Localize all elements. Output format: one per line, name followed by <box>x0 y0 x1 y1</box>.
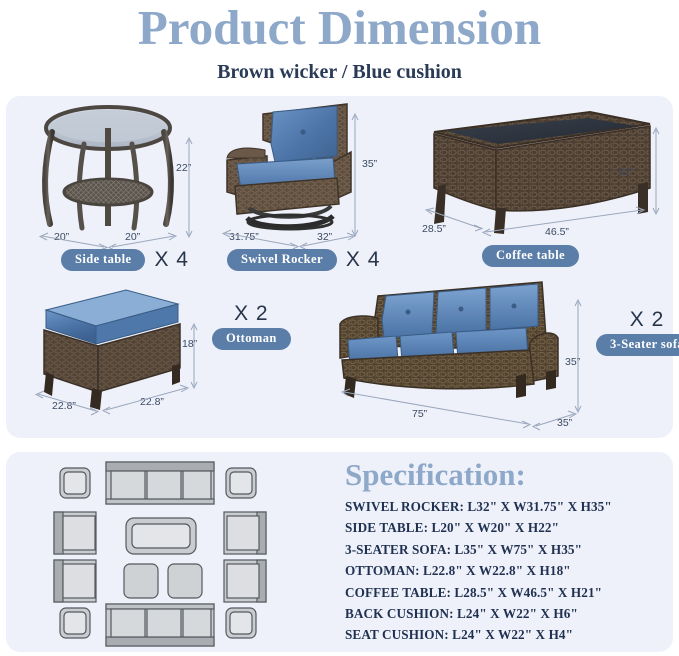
side-table-badge: Side table <box>61 249 145 271</box>
product-ottoman: 18” 22.8” 22.8” X 2 Ottoman <box>30 282 205 417</box>
product-side-table: 22” 20” 20” Side table X 4 <box>26 100 211 250</box>
swivel-rocker-badge: Swivel Rocker <box>227 249 337 271</box>
layout-side-table <box>60 608 90 638</box>
layout-coffee-table <box>126 518 196 554</box>
spec-line-swivel-rocker: SWIVEL ROCKER: L32" X W31.75" X H35" <box>345 496 670 517</box>
ottoman-dimension-arrows <box>30 282 205 417</box>
specification-section: Specification: SWIVEL ROCKER: L32" X W31… <box>345 458 670 646</box>
sofa-multiplier: X 2 <box>630 308 665 332</box>
swivel-rocker-caption: Swivel Rocker X 4 <box>227 248 380 272</box>
layout-swivel-rocker <box>224 512 266 554</box>
layout-diagram-svg <box>22 458 334 646</box>
page-subtitle: Brown wicker / Blue cushion <box>0 60 679 84</box>
spec-line-coffee-table: COFFEE TABLE: L28.5" X W46.5" X H21" <box>345 582 670 603</box>
layout-side-table <box>60 468 90 498</box>
swivel-rocker-multiplier: X 4 <box>346 248 381 272</box>
layout-sofa <box>106 604 214 646</box>
page-header: Product Dimension Brown wicker / Blue cu… <box>0 0 679 84</box>
spec-line-3-seater-sofa: 3-SEATER SOFA: L35" X W75" X H35" <box>345 539 670 560</box>
spec-line-side-table: SIDE TABLE: L20" X W20" X H22" <box>345 517 670 538</box>
layout-diagram <box>22 458 334 646</box>
specification-list: SWIVEL ROCKER: L32" X W31.75" X H35" SID… <box>345 496 670 646</box>
layout-swivel-rocker <box>54 512 96 554</box>
product-3-seater-sofa: 35” 75” 35” X 2 3-Seater sofa <box>330 280 620 425</box>
product-coffee-table: 21” 28.5” 46.5” Coffee table <box>412 100 662 250</box>
page-title: Product Dimension <box>0 2 679 54</box>
spec-line-ottoman: OTTOMAN: L22.8" X W22.8" X H18" <box>345 560 670 581</box>
sofa-dimension-arrows <box>330 280 620 430</box>
layout-sofa <box>106 462 214 504</box>
coffee-table-badge: Coffee table <box>482 245 579 267</box>
side-table-multiplier: X 4 <box>154 248 189 272</box>
layout-ottoman <box>124 564 158 598</box>
coffee-table-dimension-arrows <box>412 100 662 250</box>
layout-swivel-rocker <box>54 560 96 602</box>
ottoman-multiplier: X 2 <box>234 302 269 326</box>
layout-side-table <box>226 468 256 498</box>
layout-side-table <box>226 608 256 638</box>
side-table-dimension-arrows <box>26 100 211 250</box>
swivel-rocker-dimension-arrows <box>215 100 405 250</box>
side-table-caption: Side table X 4 <box>61 248 189 272</box>
layout-ottoman <box>168 564 202 598</box>
product-swivel-rocker: 35” 31.75” 32” Swivel Rocker X 4 <box>215 100 405 250</box>
spec-line-seat-cushion: SEAT CUSHION: L24" X W22" X H4" <box>345 624 670 645</box>
spec-line-back-cushion: BACK CUSHION: L24" X W22" X H6" <box>345 603 670 624</box>
specification-heading: Specification: <box>345 458 670 492</box>
sofa-badge: 3-Seater sofa <box>596 334 679 356</box>
layout-swivel-rocker <box>224 560 266 602</box>
coffee-table-caption: Coffee table <box>482 245 579 267</box>
ottoman-badge: Ottoman <box>212 328 291 350</box>
sofa-caption: X 2 3-Seater sofa <box>596 308 679 356</box>
ottoman-caption: X 2 Ottoman <box>212 302 291 350</box>
